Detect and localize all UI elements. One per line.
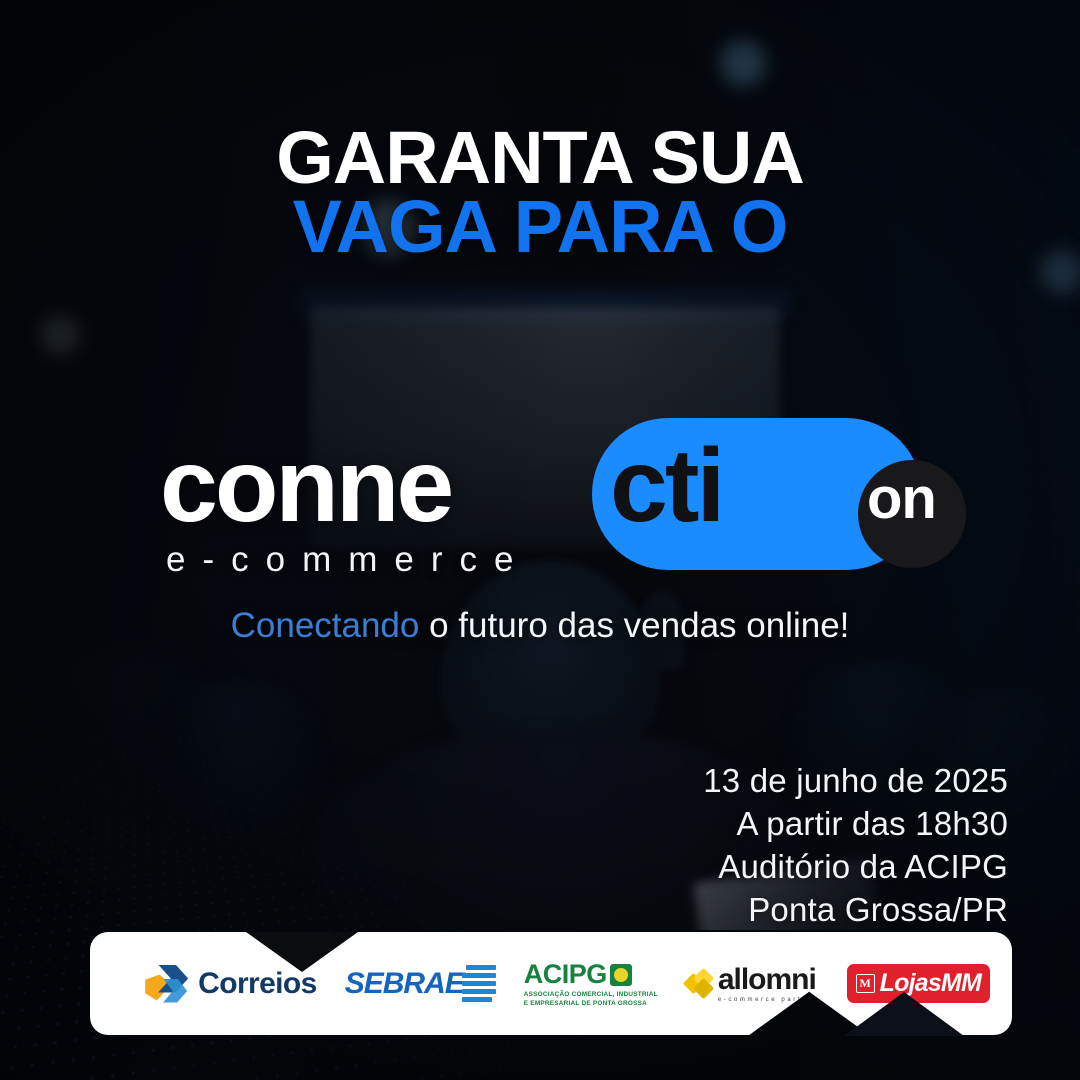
- bokeh-light: [720, 40, 766, 86]
- sponsor-bar-bottom-notch: [844, 992, 964, 1036]
- lojasmm-monogram-icon: M: [856, 974, 875, 993]
- acipg-label: ACIPG: [524, 959, 607, 990]
- logo-text-conne: conne: [160, 434, 451, 538]
- acipg-sub-line-1: ASSOCIAÇÃO COMERCIAL, INDUSTRIAL: [524, 991, 658, 999]
- event-date: 13 de junho de 2025: [703, 760, 1008, 803]
- sponsor-bar-top-notch: [246, 932, 358, 972]
- event-venue: Auditório da ACIPG: [703, 846, 1008, 889]
- headline-line-2: VAGA PARA O: [0, 193, 1080, 262]
- sponsor-allomni[interactable]: allomni e-commerce partner: [686, 965, 819, 1003]
- acipg-sub-line-2: E EMPRESARIAL DE PONTA GROSSA: [524, 1000, 658, 1008]
- correios-arrow-icon: [145, 965, 189, 1003]
- headline: GARANTA SUA VAGA PARA O: [0, 124, 1080, 262]
- event-city: Ponta Grossa/PR: [703, 889, 1008, 932]
- acipg-sun-icon: [610, 964, 632, 986]
- event-time: A partir das 18h30: [703, 803, 1008, 846]
- tagline: Conectando o futuro das vendas online!: [0, 606, 1080, 646]
- connection-logo: conne cti on e-commerce: [0, 432, 1080, 592]
- sebrae-bars-icon: [462, 965, 496, 1002]
- allomni-cross-icon: [686, 971, 712, 997]
- event-details: 13 de junho de 2025 A partir das 18h30 A…: [703, 760, 1008, 932]
- logo-text-on: on: [867, 470, 936, 528]
- allomni-label: allomni: [718, 965, 819, 995]
- tagline-highlight: Conectando: [231, 606, 420, 645]
- headline-line-1: GARANTA SUA: [0, 124, 1080, 193]
- sponsor-sebrae[interactable]: SEBRAE: [345, 965, 496, 1002]
- sebrae-label: SEBRAE: [345, 967, 464, 1001]
- logo-subtitle-ecommerce: e-commerce: [166, 542, 530, 577]
- bokeh-light: [40, 315, 80, 355]
- logo-text-cti: cti: [610, 434, 722, 538]
- tagline-rest: o futuro das vendas online!: [419, 606, 849, 645]
- sponsor-acipg[interactable]: ACIPG ASSOCIAÇÃO COMERCIAL, INDUSTRIAL E…: [524, 959, 658, 1008]
- event-poster: GARANTA SUA VAGA PARA O conne cti on e-c…: [0, 0, 1080, 1080]
